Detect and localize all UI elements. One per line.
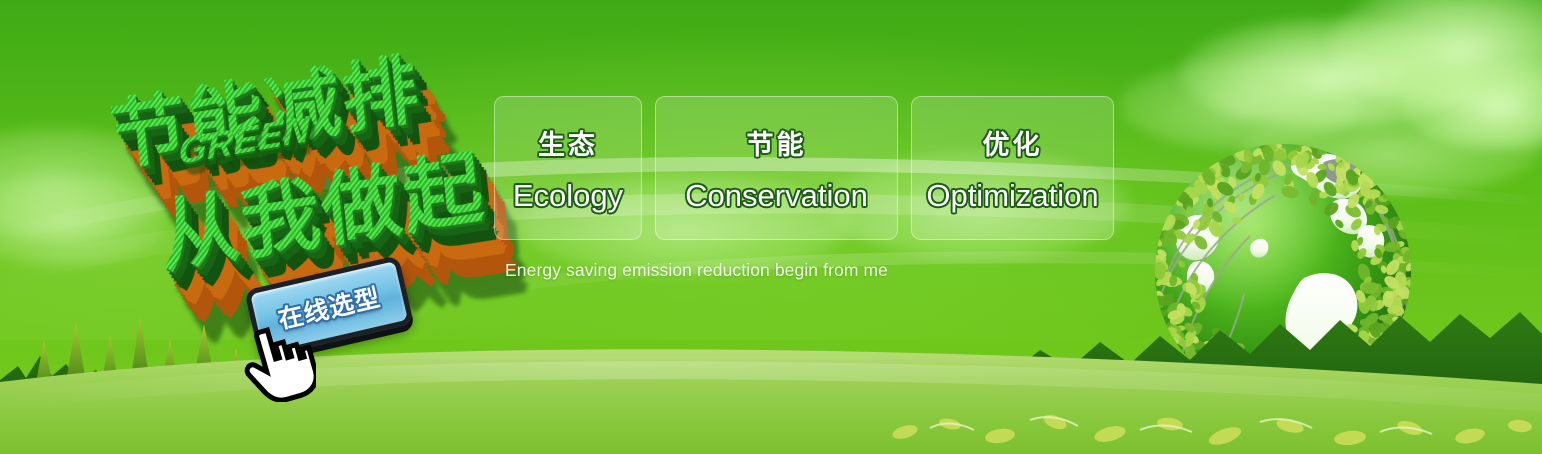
- feature-card-title-en: Optimization: [926, 178, 1098, 214]
- cloud-icon: [1180, 18, 1480, 128]
- feature-card-title-cn: 节能: [747, 123, 807, 162]
- hero-title-line-3: 从我做起: [153, 122, 490, 289]
- feature-card-optimization[interactable]: 优化 Optimization: [911, 96, 1114, 240]
- cloud-icon: [1120, 60, 1360, 150]
- feature-card-title-cn: 优化: [983, 123, 1043, 162]
- online-selection-button-label: 在线选型: [274, 278, 383, 336]
- online-selection-button[interactable]: 在线选型: [244, 255, 414, 359]
- hero-title-line-2: GREEN: [178, 108, 311, 174]
- feature-card-title-en: Ecology: [513, 178, 623, 214]
- online-selection-button-wrap: 在线选型: [244, 255, 414, 359]
- feature-card-conservation[interactable]: 节能 Conservation: [655, 96, 898, 240]
- cloud-icon: [1400, 60, 1542, 150]
- eco-promo-banner: 节能减排 GREEN 从我做起 生态 Ecology 节能 Conservati…: [0, 0, 1542, 454]
- feature-card-list: 生态 Ecology 节能 Conservation 优化 Optimizati…: [494, 96, 1114, 240]
- grass-field-icon: [0, 336, 1542, 454]
- cloud-icon: [1330, 0, 1542, 110]
- feature-card-title-en: Conservation: [685, 178, 868, 214]
- feature-card-ecology[interactable]: 生态 Ecology: [494, 96, 642, 240]
- feature-card-title-cn: 生态: [538, 123, 598, 162]
- cloud-icon: [0, 128, 180, 238]
- cloud-icon: [0, 175, 170, 265]
- cloud-icon: [1240, 105, 1540, 195]
- tree-icon: [0, 294, 1542, 454]
- hero-title: 节能减排 GREEN 从我做起: [97, 23, 499, 291]
- hero-title-line-1: 节能减排: [104, 27, 424, 185]
- green-globe-icon: [1128, 122, 1438, 432]
- banner-tagline: Energy saving emission reduction begin f…: [505, 260, 888, 281]
